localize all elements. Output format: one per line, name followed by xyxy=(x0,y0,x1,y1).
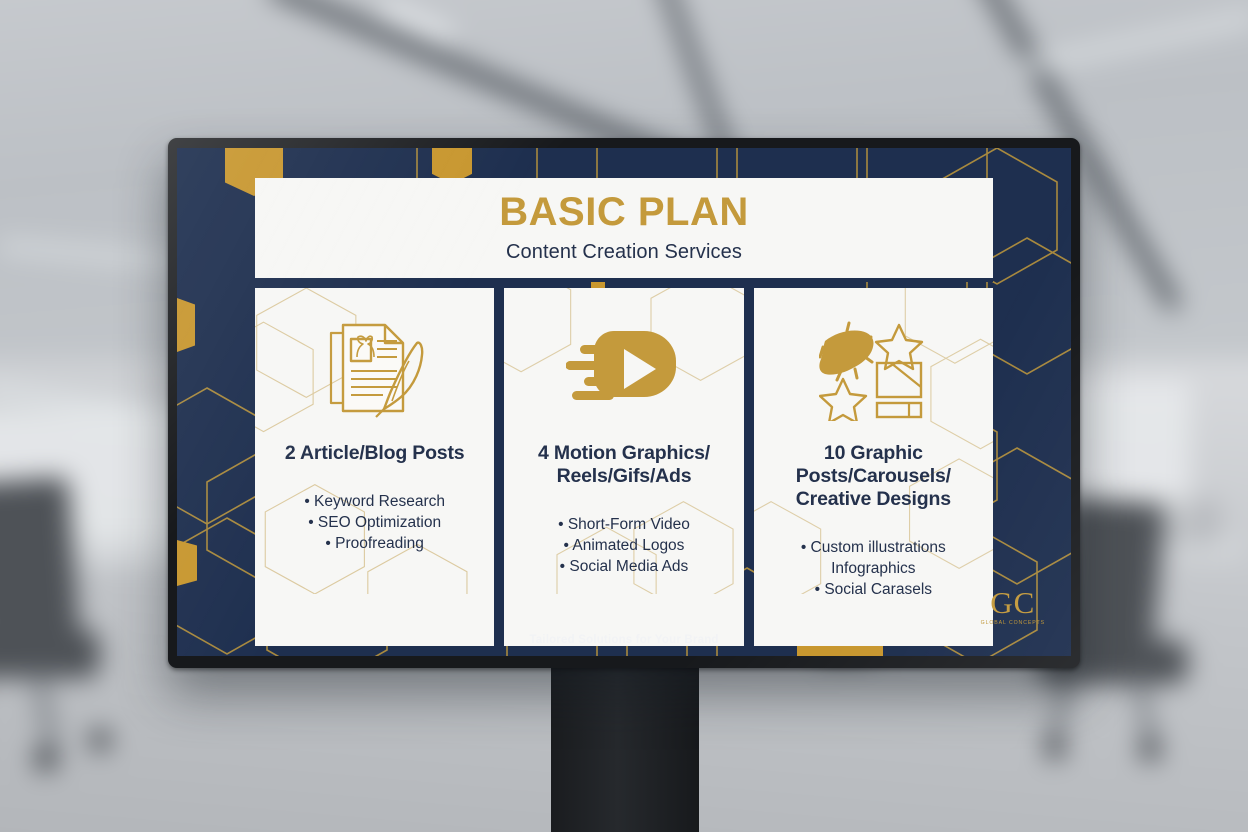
list-item: • Social Media Ads xyxy=(558,556,690,577)
graphic-design-brush-stars-icon xyxy=(764,310,983,428)
column-title: 4 Motion Graphics/ Reels/Gifs/Ads xyxy=(514,442,733,488)
plan-column-article-blog[interactable]: 2 Article/Blog Posts • Keyword Research … xyxy=(255,288,494,646)
office-chair-seat xyxy=(0,630,100,678)
chair-wheel xyxy=(1140,740,1160,760)
footer-tagline: Tailored Solutions for Your Brand xyxy=(529,634,718,646)
screenshot-scene: BASIC PLAN Content Creation Services xyxy=(0,0,1248,832)
logo-monogram: GC xyxy=(981,587,1045,618)
gold-accent-left-upper xyxy=(177,298,195,352)
plan-column-graphic-design[interactable]: 10 Graphic Posts/Carousels/ Creative Des… xyxy=(754,288,993,646)
chair-wheel xyxy=(35,748,57,770)
list-item: • Short-Form Video xyxy=(558,514,690,535)
list-item: • Proofreading xyxy=(304,533,445,554)
monitor-stand xyxy=(551,668,699,832)
chair-wheel xyxy=(90,730,110,750)
plan-columns: 2 Article/Blog Posts • Keyword Research … xyxy=(255,288,993,646)
column-title: 2 Article/Blog Posts xyxy=(283,442,467,465)
article-document-quill-icon xyxy=(265,310,484,428)
page-subtitle: Content Creation Services xyxy=(506,241,742,264)
column-title: 10 Graphic Posts/Carousels/ Creative Des… xyxy=(764,442,983,511)
slide-footer: Tailored Solutions for Your Brand xyxy=(177,624,1071,656)
gold-accent-left-lower xyxy=(177,540,197,586)
brand-logo: GC GLOBAL CONCEPTS xyxy=(981,587,1045,626)
column-feature-list: • Short-Form Video • Animated Logos • So… xyxy=(558,514,690,577)
list-item: • Social Carasels xyxy=(801,579,946,600)
presentation-slide: BASIC PLAN Content Creation Services xyxy=(177,148,1071,656)
list-item: • Keyword Research xyxy=(304,491,445,512)
chair-wheel xyxy=(1045,738,1065,758)
list-item: Infographics xyxy=(801,558,946,579)
column-feature-list: • Keyword Research • SEO Optimization • … xyxy=(304,491,445,554)
list-item: • SEO Optimization xyxy=(304,512,445,533)
slide-header: BASIC PLAN Content Creation Services xyxy=(255,178,993,282)
motion-video-play-icon xyxy=(514,310,733,428)
list-item: • Custom illustrations xyxy=(801,537,946,558)
plan-column-motion-graphics[interactable]: 4 Motion Graphics/ Reels/Gifs/Ads • Shor… xyxy=(504,288,743,646)
page-title: BASIC PLAN xyxy=(499,192,748,232)
list-item: • Animated Logos xyxy=(558,535,690,556)
column-feature-list: • Custom illustrations Infographics • So… xyxy=(801,537,946,600)
monitor-bezel: BASIC PLAN Content Creation Services xyxy=(168,138,1080,668)
